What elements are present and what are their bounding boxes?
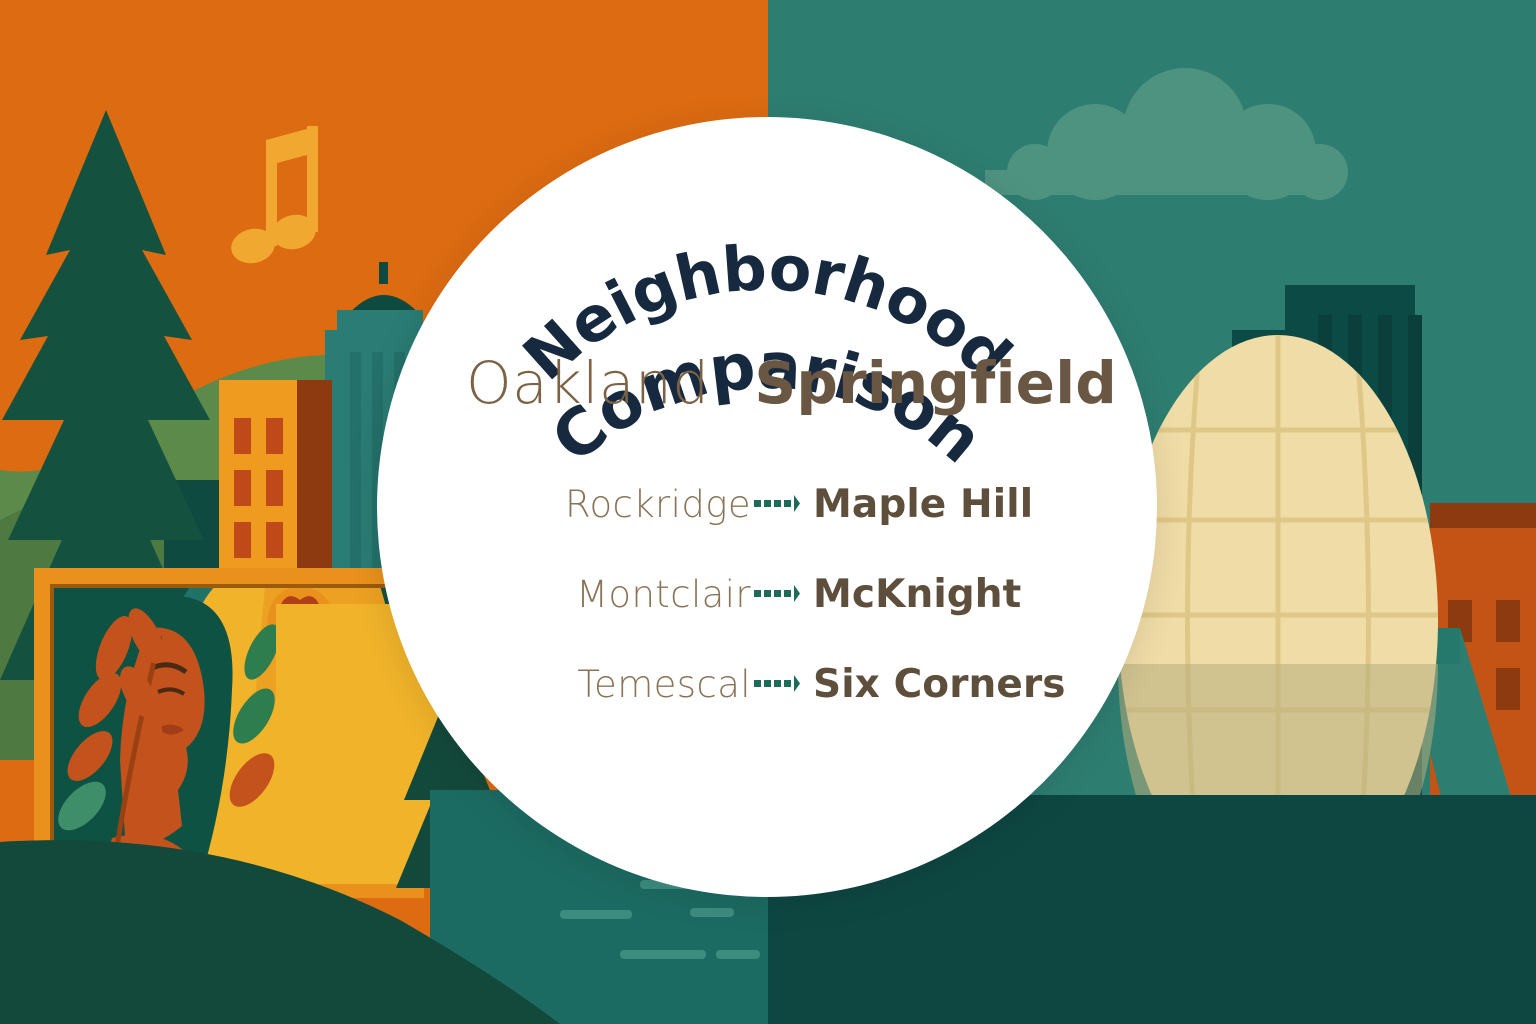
neighborhood-left: Temescal [451,663,751,706]
brick-building-roof [1430,503,1536,531]
comparison-panel: Oakland Springfield Rockridge Maple Hill [377,117,1157,897]
city-header-left: Oakland [451,349,710,417]
neighborhood-left: Montclair [451,573,751,616]
neighborhood-right: Six Corners [813,662,1066,707]
dotted-arrow-icon [751,674,803,694]
comparison-row[interactable]: Rockridge Maple Hill [451,459,1117,549]
city-header-right: Springfield [754,349,1117,417]
city-headers: Oakland Springfield [417,349,1117,417]
dotted-arrow-icon [751,494,803,514]
comparison-row[interactable]: Temescal Six Corners [451,639,1117,729]
comparison-row[interactable]: Montclair McKnight [451,549,1117,639]
poster-canvas: Neighborhood Comparison Oakland Springfi… [0,0,1536,1024]
dotted-arrow-icon [751,584,803,604]
neighborhood-right: Maple Hill [813,482,1033,527]
neighborhood-right: McKnight [813,572,1021,617]
comparison-rows: Rockridge Maple Hill Montclair [417,459,1117,729]
neighborhood-left: Rockridge [451,483,751,526]
